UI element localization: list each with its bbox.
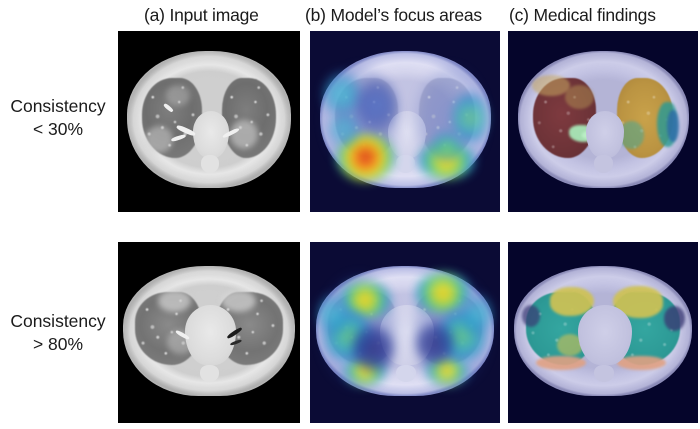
row-label-line2: > 80% [0,333,116,356]
lung-field-group [518,51,689,189]
finding-left-lung-opacity [617,78,673,158]
panel-row1-input-image [118,31,300,212]
spine [594,365,614,382]
finding-patch-navy [522,305,540,327]
ct-findings-row1 [508,31,698,212]
left-lung [222,78,276,158]
mediastinum [586,111,624,158]
finding-patch-salmon [536,356,586,371]
panel-row1-model-focus-areas [310,31,500,212]
attention-region [329,111,359,147]
lung-field-group [123,266,294,396]
ground-glass-opacity [230,120,258,149]
row-label-consistency-low: Consistency < 30% [0,95,116,141]
finding-right-lung-consolidation [533,78,596,158]
spine [594,155,613,173]
finding-patch-gold [565,85,594,109]
ct-heatmap-row1 [310,31,500,212]
ct-scan-row1 [118,31,300,212]
finding-patch-blue [667,110,678,142]
lung-field-group [514,266,693,396]
ct-findings-row2 [508,242,698,423]
ground-glass-opacity [221,290,256,312]
spine [200,365,219,382]
column-header-input-image: (a) Input image [144,5,259,26]
lung-field-group [127,51,291,189]
panel-row2-model-focus-areas [310,242,500,423]
row-label-line1: Consistency [10,311,105,331]
attention-heatmap-overlay [310,242,500,423]
ground-glass-opacity [166,85,190,106]
right-lung [142,78,203,158]
ct-heatmap-row2 [310,242,500,423]
attention-region [432,132,462,161]
panel-row2-medical-findings [508,242,698,423]
attention-heatmap-overlay [310,31,500,212]
attention-region [318,293,348,336]
ct-scan-row2 [118,242,300,423]
mediastinum [578,305,632,365]
row-label-consistency-high: Consistency > 80% [0,310,116,356]
row-label-line1: Consistency [10,96,105,116]
panel-row1-medical-findings [508,31,698,212]
column-header-model-focus-areas: (b) Model’s focus areas [305,5,482,26]
spine [201,155,219,173]
figure-root: (a) Input image (b) Model’s focus areas … [0,0,700,429]
finding-patch-gold [532,75,570,96]
row-label-line2: < 30% [0,118,116,141]
finding-patch-salmon [617,356,666,371]
panel-row2-input-image [118,242,300,423]
finding-patch-navy [664,306,685,331]
column-header-medical-findings: (c) Medical findings [509,5,656,26]
attention-minimum-region [352,325,394,372]
attention-peak-left-upper-lobe [416,273,469,313]
